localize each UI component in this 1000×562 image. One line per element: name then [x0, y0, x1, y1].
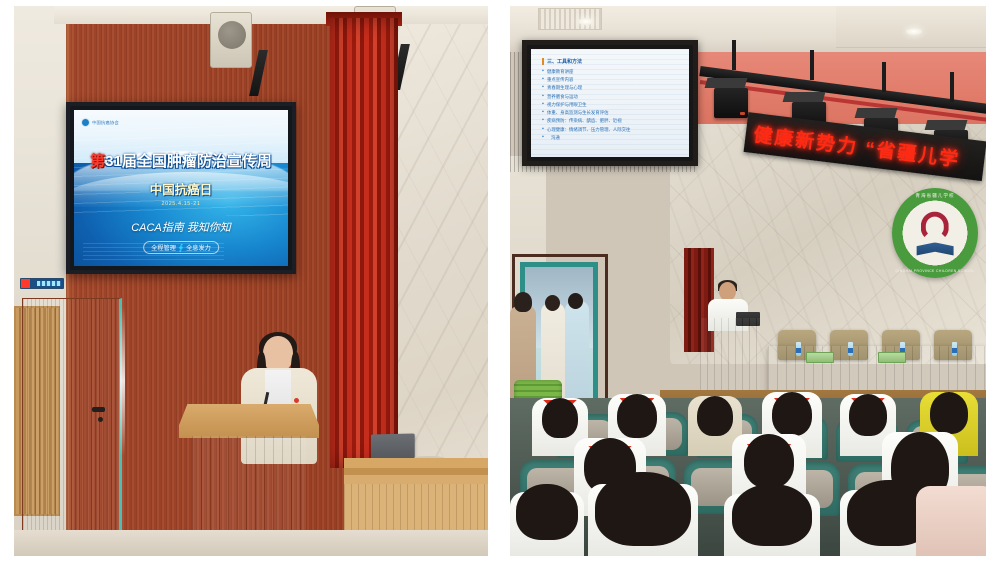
lamp-rod-1 [732, 40, 736, 70]
ceiling-downlight-1 [578, 18, 594, 25]
name-card-1 [806, 352, 834, 363]
projection-slide-title: 三、工具和方法 [542, 58, 681, 65]
slide-date: 2025.4.15-21 [162, 201, 201, 207]
slide-fine-print [83, 243, 224, 262]
left-floor [14, 530, 488, 556]
slide-title-rest: 届全国肿瘤防治宣传周 [122, 153, 272, 170]
ceiling-panel-right [836, 6, 986, 48]
lamp-rod-3 [882, 62, 886, 92]
water-bottle-4 [952, 342, 957, 356]
projection-slide: 三、工具和方法 健康教育讲座 重点宣传内容 青春期生理与心理 营养膳食与运动 视… [531, 49, 689, 157]
projection-bullet: 营养膳食与运动 [542, 95, 681, 100]
presenter-head [263, 336, 293, 372]
slide-main-title: 第31届全国肿瘤防治宣传周 [90, 154, 272, 169]
projection-screen[interactable]: 三、工具和方法 健康教育讲座 重点宣传内容 青春期生理与心理 营养膳食与运动 视… [522, 40, 698, 166]
podium-top [179, 404, 319, 438]
wall-speaker-left [210, 12, 252, 68]
school-emblem: 青海省疆儿学校 QINGHAI PROVINCE CHILDREN SCHOOL [892, 188, 978, 278]
caca-logo: 中国抗癌协会 [81, 118, 119, 127]
student-head [930, 392, 968, 434]
projection-bullet: 青春期生理与心理 [542, 86, 681, 91]
slide-canvas: 中国抗癌协会 第31届全国肿瘤防治宣传周 中国抗癌日 2025.4.15-21 … [74, 110, 288, 266]
caca-logo-mark [81, 118, 90, 127]
emblem-inner [913, 210, 958, 257]
left-photo[interactable]: 中国抗癌协会 第31届全国肿瘤防治宣传周 中国抗癌日 2025.4.15-21 … [14, 6, 488, 556]
audience-seating-area [510, 398, 986, 556]
collage-canvas: 中国抗癌协会 第31届全国肿瘤防治宣传周 中国抗癌日 2025.4.15-21 … [0, 0, 1000, 562]
exit-sign-glyph [37, 281, 61, 286]
projection-bullet: 体重、身高监测与生长发育评估 [542, 111, 681, 116]
student-head [732, 484, 812, 546]
emblem-top-text: 青海省疆儿学校 [915, 193, 954, 199]
emergency-exit-sign [20, 278, 64, 289]
doorway-person-2-head [568, 293, 583, 309]
student-head [849, 394, 887, 436]
doorway-person-1-head [545, 295, 560, 311]
slide-slogan: CACA指南 我知你知 [131, 219, 231, 235]
emblem-book-icon [916, 242, 954, 255]
presenter-badge [294, 398, 299, 403]
slide-title-number: 31 [105, 153, 122, 170]
student-head [617, 394, 657, 438]
caca-logo-text: 中国抗癌协会 [92, 120, 119, 126]
projection-bullet: 重点宣传内容 [542, 78, 681, 83]
name-card-2 [878, 352, 906, 363]
right-photo[interactable]: 健康新势力 “省疆儿学 三、工具和方法 健康教育讲座 重点宣传内容 青春期生理与… [510, 6, 986, 556]
student-head [697, 396, 733, 436]
projection-bullet: 心理健康：情绪调节、压力管理、人际交往 [542, 128, 681, 133]
doorway-person-2-body [565, 301, 589, 412]
student-head [744, 434, 794, 488]
emblem-flame-icon [921, 211, 949, 240]
student-foreground [588, 484, 698, 556]
ceiling-strip [54, 6, 488, 24]
student-head [542, 398, 578, 438]
lamp-rod-2 [810, 50, 814, 80]
ceiling-downlight-2 [906, 28, 922, 35]
student-head [772, 392, 812, 436]
lamp-rod-4 [950, 72, 954, 102]
water-bottle-1 [796, 342, 801, 356]
student-shirt [916, 486, 986, 556]
emblem-bottom-text: QINGHAI PROVINCE CHILDREN SCHOOL [895, 269, 974, 273]
projection-bullet: 视力保护与用眼卫生 [542, 103, 681, 108]
student-foreground [916, 486, 986, 556]
led-wall-screen[interactable]: 中国抗癌协会 第31届全国肿瘤防治宣传周 中国抗癌日 2025.4.15-21 … [66, 102, 296, 274]
projection-bullet: 沟通 [542, 136, 681, 141]
student-foreground [510, 492, 584, 556]
student-head [516, 484, 578, 540]
red-stage-curtain [330, 18, 398, 468]
projection-bullet-list: 健康教育讲座 重点宣传内容 青春期生理与心理 营养膳食与运动 视力保护与用眼卫生… [542, 70, 681, 140]
door-lock [98, 417, 103, 422]
slide-subtitle: 中国抗癌日 [150, 179, 213, 198]
stage-light-1 [714, 88, 748, 118]
student-foreground [724, 494, 820, 556]
projection-bullet: 健康教育讲座 [542, 70, 681, 75]
student-head [595, 472, 691, 546]
door-handle[interactable] [92, 407, 105, 412]
stage-podium [700, 318, 760, 390]
door-light-gap [120, 306, 125, 456]
water-bottle-2 [848, 342, 853, 356]
standing-person-head [514, 292, 532, 312]
side-door[interactable] [22, 298, 122, 546]
slide-title-prefix: 第 [90, 153, 105, 170]
projection-bullet: 疾病预防：传染病、龋齿、肥胖、近视 [542, 119, 681, 124]
